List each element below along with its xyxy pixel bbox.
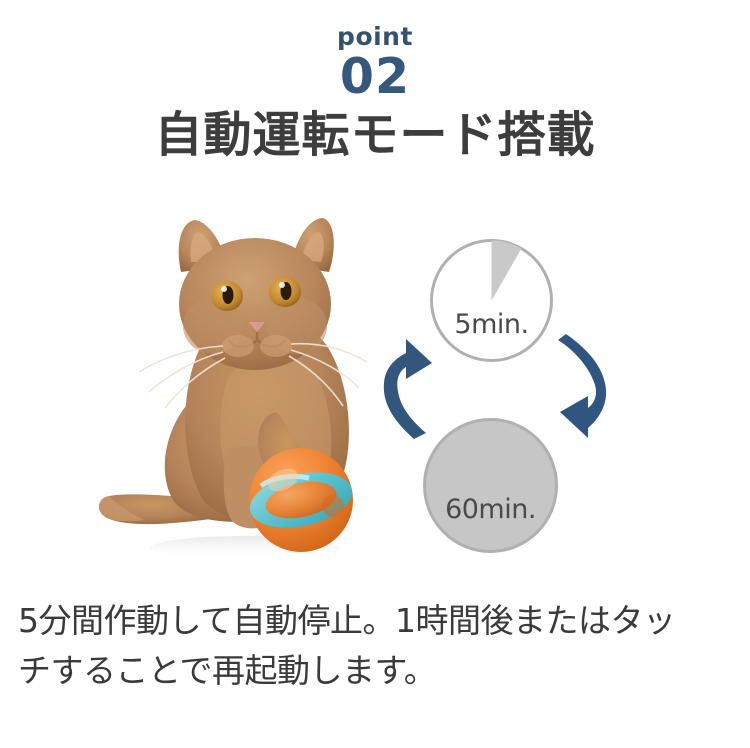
- timer-standby-60min: 60min.: [421, 416, 560, 555]
- arrow-standby-down: [552, 330, 622, 440]
- arrow-standby-shape: [558, 334, 606, 438]
- page-title: 自動運転モード搭載: [0, 108, 750, 163]
- arrow-restart-up: [368, 335, 438, 440]
- arrow-restart-shape: [384, 339, 432, 439]
- illustration-stage: 5min. 60min.: [0, 190, 750, 570]
- point-number: 02: [0, 52, 750, 101]
- header: point 02: [0, 24, 750, 101]
- caption-text: 5分間作動して自動停止。1時間後またはタッ チすることで再起動します。: [18, 596, 734, 696]
- caption-line-1: 5分間作動して自動停止。1時間後またはタッ: [18, 596, 734, 646]
- cat-photo: [95, 200, 385, 570]
- point-label: point: [0, 24, 750, 50]
- caption-line-2: チすることで再起動します。: [18, 646, 734, 696]
- timer-standby-disc: [425, 420, 557, 552]
- page-root: point 02 自動運転モード搭載: [0, 0, 750, 748]
- timer-run-5min: 5min.: [428, 237, 555, 364]
